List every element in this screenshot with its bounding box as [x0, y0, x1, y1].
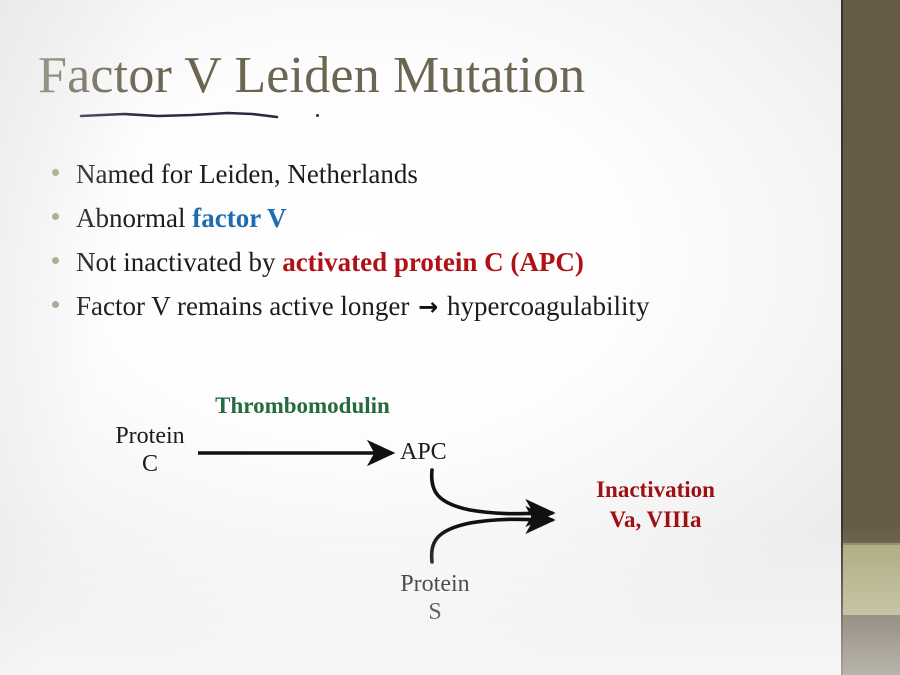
diagram-label-protein-s: Protein S	[380, 570, 490, 626]
bullet-dot-icon	[52, 169, 59, 176]
protein-s-line-2: S	[380, 598, 490, 626]
diagram-label-inactivation: Inactivation Va, VIIIa	[568, 475, 743, 535]
inactivation-line-1: Inactivation	[568, 475, 743, 505]
bullet-item-1-text: Named for Leiden, Netherlands	[76, 158, 418, 190]
protein-c-line-2: C	[100, 450, 200, 478]
protein-s-line-1: Protein	[380, 570, 490, 598]
bullet-dot-icon	[52, 257, 59, 264]
list-item: Abnormal factor V	[52, 202, 812, 246]
bullet-item-4-text: Factor V remains active longer → hyperco…	[76, 290, 649, 323]
arrow-protein-s-to-inactivation	[432, 519, 552, 562]
bullet-dot-icon	[52, 301, 59, 308]
list-item: Named for Leiden, Netherlands	[52, 158, 812, 202]
bullet-item-3-text: Not inactivated by activated protein C (…	[76, 246, 584, 278]
bullet-item-2-text: Abnormal factor V	[76, 202, 286, 234]
sidebar-accent-band	[843, 545, 900, 615]
list-item: Factor V remains active longer → hyperco…	[52, 290, 812, 334]
protein-c-pathway-diagram: APC straight arrow --> Protein C Thrombo…	[0, 370, 840, 660]
bullet-4-label: Factor V remains active longer	[76, 291, 416, 321]
bullet-2-label: Abnormal	[76, 203, 192, 233]
slide-canvas: Factor V Leiden Mutation Named for Leide…	[0, 0, 900, 675]
bullet-list: Named for Leiden, Netherlands Abnormal f…	[52, 158, 812, 334]
bullet-1-label: Named for Leiden, Netherlands	[76, 159, 418, 189]
diagram-label-thrombomodulin: Thrombomodulin	[195, 392, 410, 420]
protein-c-line-1: Protein	[100, 422, 200, 450]
handwritten-underline-annotation	[80, 108, 278, 122]
arrow-apc-to-inactivation	[432, 470, 552, 514]
bullet-3-label: Not inactivated by	[76, 247, 282, 277]
inactivation-line-2: Va, VIIIa	[568, 505, 743, 535]
ink-dot-annotation	[316, 114, 319, 117]
bullet-dot-icon	[52, 213, 59, 220]
bullet-2-emphasis: factor V	[192, 203, 286, 233]
diagram-label-protein-c: Protein C	[100, 422, 200, 478]
right-arrow-icon: →	[416, 293, 440, 321]
bullet-4-suffix: hypercoagulability	[440, 291, 649, 321]
page-title: Factor V Leiden Mutation	[38, 46, 585, 106]
list-item: Not inactivated by activated protein C (…	[52, 246, 812, 290]
bullet-3-emphasis: activated protein C (APC)	[282, 247, 584, 277]
diagram-label-apc: APC	[400, 438, 470, 466]
